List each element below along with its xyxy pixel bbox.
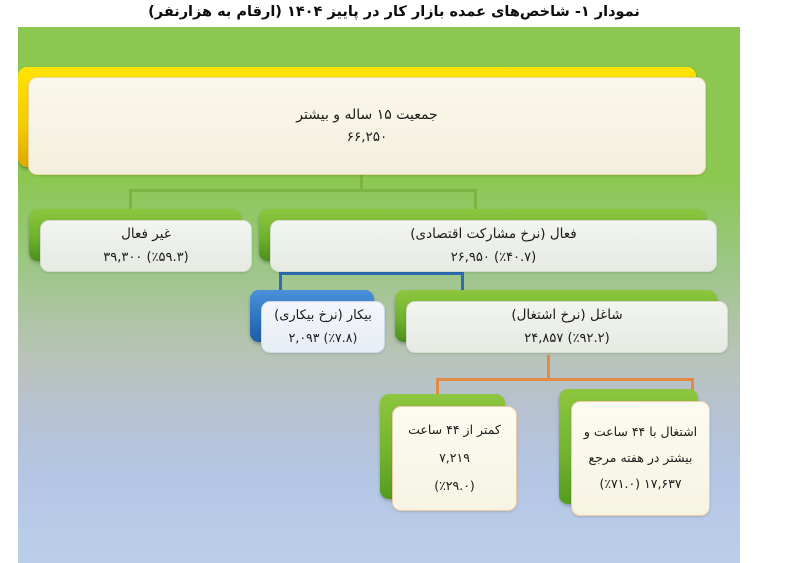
- node-over-44-hours-value: ۱۷,۶۳۷ (٪۷۱.۰): [599, 476, 681, 493]
- connector-to-unemployed: [279, 272, 282, 292]
- node-over-44-hours-face: اشتغال با ۴۴ ساعت و بیشتر در هفته مرجع ۱…: [571, 401, 710, 516]
- connector-to-employed: [461, 272, 464, 292]
- connector-employed-bar: [436, 378, 694, 381]
- node-population-value: ۶۶,۲۵۰: [347, 128, 388, 146]
- node-inactive-label: غیر فعال: [121, 225, 171, 243]
- node-under-44-hours-value: ۷,۲۱۹: [439, 450, 470, 467]
- node-over-44-hours-label-line1: اشتغال با ۴۴ ساعت و: [584, 424, 697, 441]
- node-population-face: جمعیت ۱۵ ساله و بیشتر ۶۶,۲۵۰: [28, 77, 706, 175]
- node-active-face: فعال (نرخ مشارکت اقتصادی) (٪۴۰.۷) ۲۶,۹۵۰: [270, 220, 717, 272]
- node-over-44-hours-label-line2: بیشتر در هفته مرجع: [589, 450, 693, 467]
- node-active-value: (٪۴۰.۷) ۲۶,۹۵۰: [451, 249, 536, 267]
- node-under-44-hours-label: کمتر از ۴۴ ساعت: [408, 422, 501, 439]
- page-title: نمودار ۱- شاخص‌های عمده بازار کار در پای…: [0, 0, 788, 24]
- node-unemployed[interactable]: بیکار (نرخ بیکاری) (٪۷.۸) ۲,۰۹۳: [250, 290, 374, 342]
- connector-population-bar: [129, 189, 477, 192]
- node-unemployed-label: بیکار (نرخ بیکاری): [274, 307, 372, 325]
- node-employed-value: (٪۹۲.۲) ۲۴,۸۵۷: [524, 330, 609, 348]
- chart-canvas: جمعیت ۱۵ ساله و بیشتر ۶۶,۲۵۰ غیر فعال (٪…: [18, 27, 740, 563]
- node-population-label: جمعیت ۱۵ ساله و بیشتر: [296, 106, 437, 125]
- node-population[interactable]: جمعیت ۱۵ ساله و بیشتر ۶۶,۲۵۰: [18, 67, 696, 167]
- connector-to-active: [474, 189, 477, 211]
- node-inactive[interactable]: غیر فعال (٪۵۹.۳) ۳۹,۳۰۰: [29, 209, 241, 261]
- node-active-label: فعال (نرخ مشارکت اقتصادی): [410, 225, 576, 243]
- node-over-44-hours[interactable]: اشتغال با ۴۴ ساعت و بیشتر در هفته مرجع ۱…: [559, 389, 698, 504]
- connector-active-bar: [279, 272, 464, 275]
- node-under-44-hours-percent: (٪۲۹.۰): [434, 478, 475, 495]
- node-employed-label: شاغل (نرخ اشتغال): [511, 306, 622, 324]
- node-unemployed-value: (٪۷.۸) ۲,۰۹۳: [289, 330, 358, 347]
- node-active[interactable]: فعال (نرخ مشارکت اقتصادی) (٪۴۰.۷) ۲۶,۹۵۰: [259, 209, 706, 261]
- node-employed-face: شاغل (نرخ اشتغال) (٪۹۲.۲) ۲۴,۸۵۷: [406, 301, 728, 353]
- node-inactive-face: غیر فعال (٪۵۹.۳) ۳۹,۳۰۰: [40, 220, 252, 272]
- node-employed[interactable]: شاغل (نرخ اشتغال) (٪۹۲.۲) ۲۴,۸۵۷: [395, 290, 717, 342]
- node-inactive-value: (٪۵۹.۳) ۳۹,۳۰۰: [103, 249, 188, 267]
- node-unemployed-face: بیکار (نرخ بیکاری) (٪۷.۸) ۲,۰۹۳: [261, 301, 385, 353]
- node-under-44-hours[interactable]: کمتر از ۴۴ ساعت ۷,۲۱۹ (٪۲۹.۰): [380, 394, 505, 499]
- connector-to-inactive: [129, 189, 132, 211]
- node-under-44-hours-face: کمتر از ۴۴ ساعت ۷,۲۱۹ (٪۲۹.۰): [392, 406, 517, 511]
